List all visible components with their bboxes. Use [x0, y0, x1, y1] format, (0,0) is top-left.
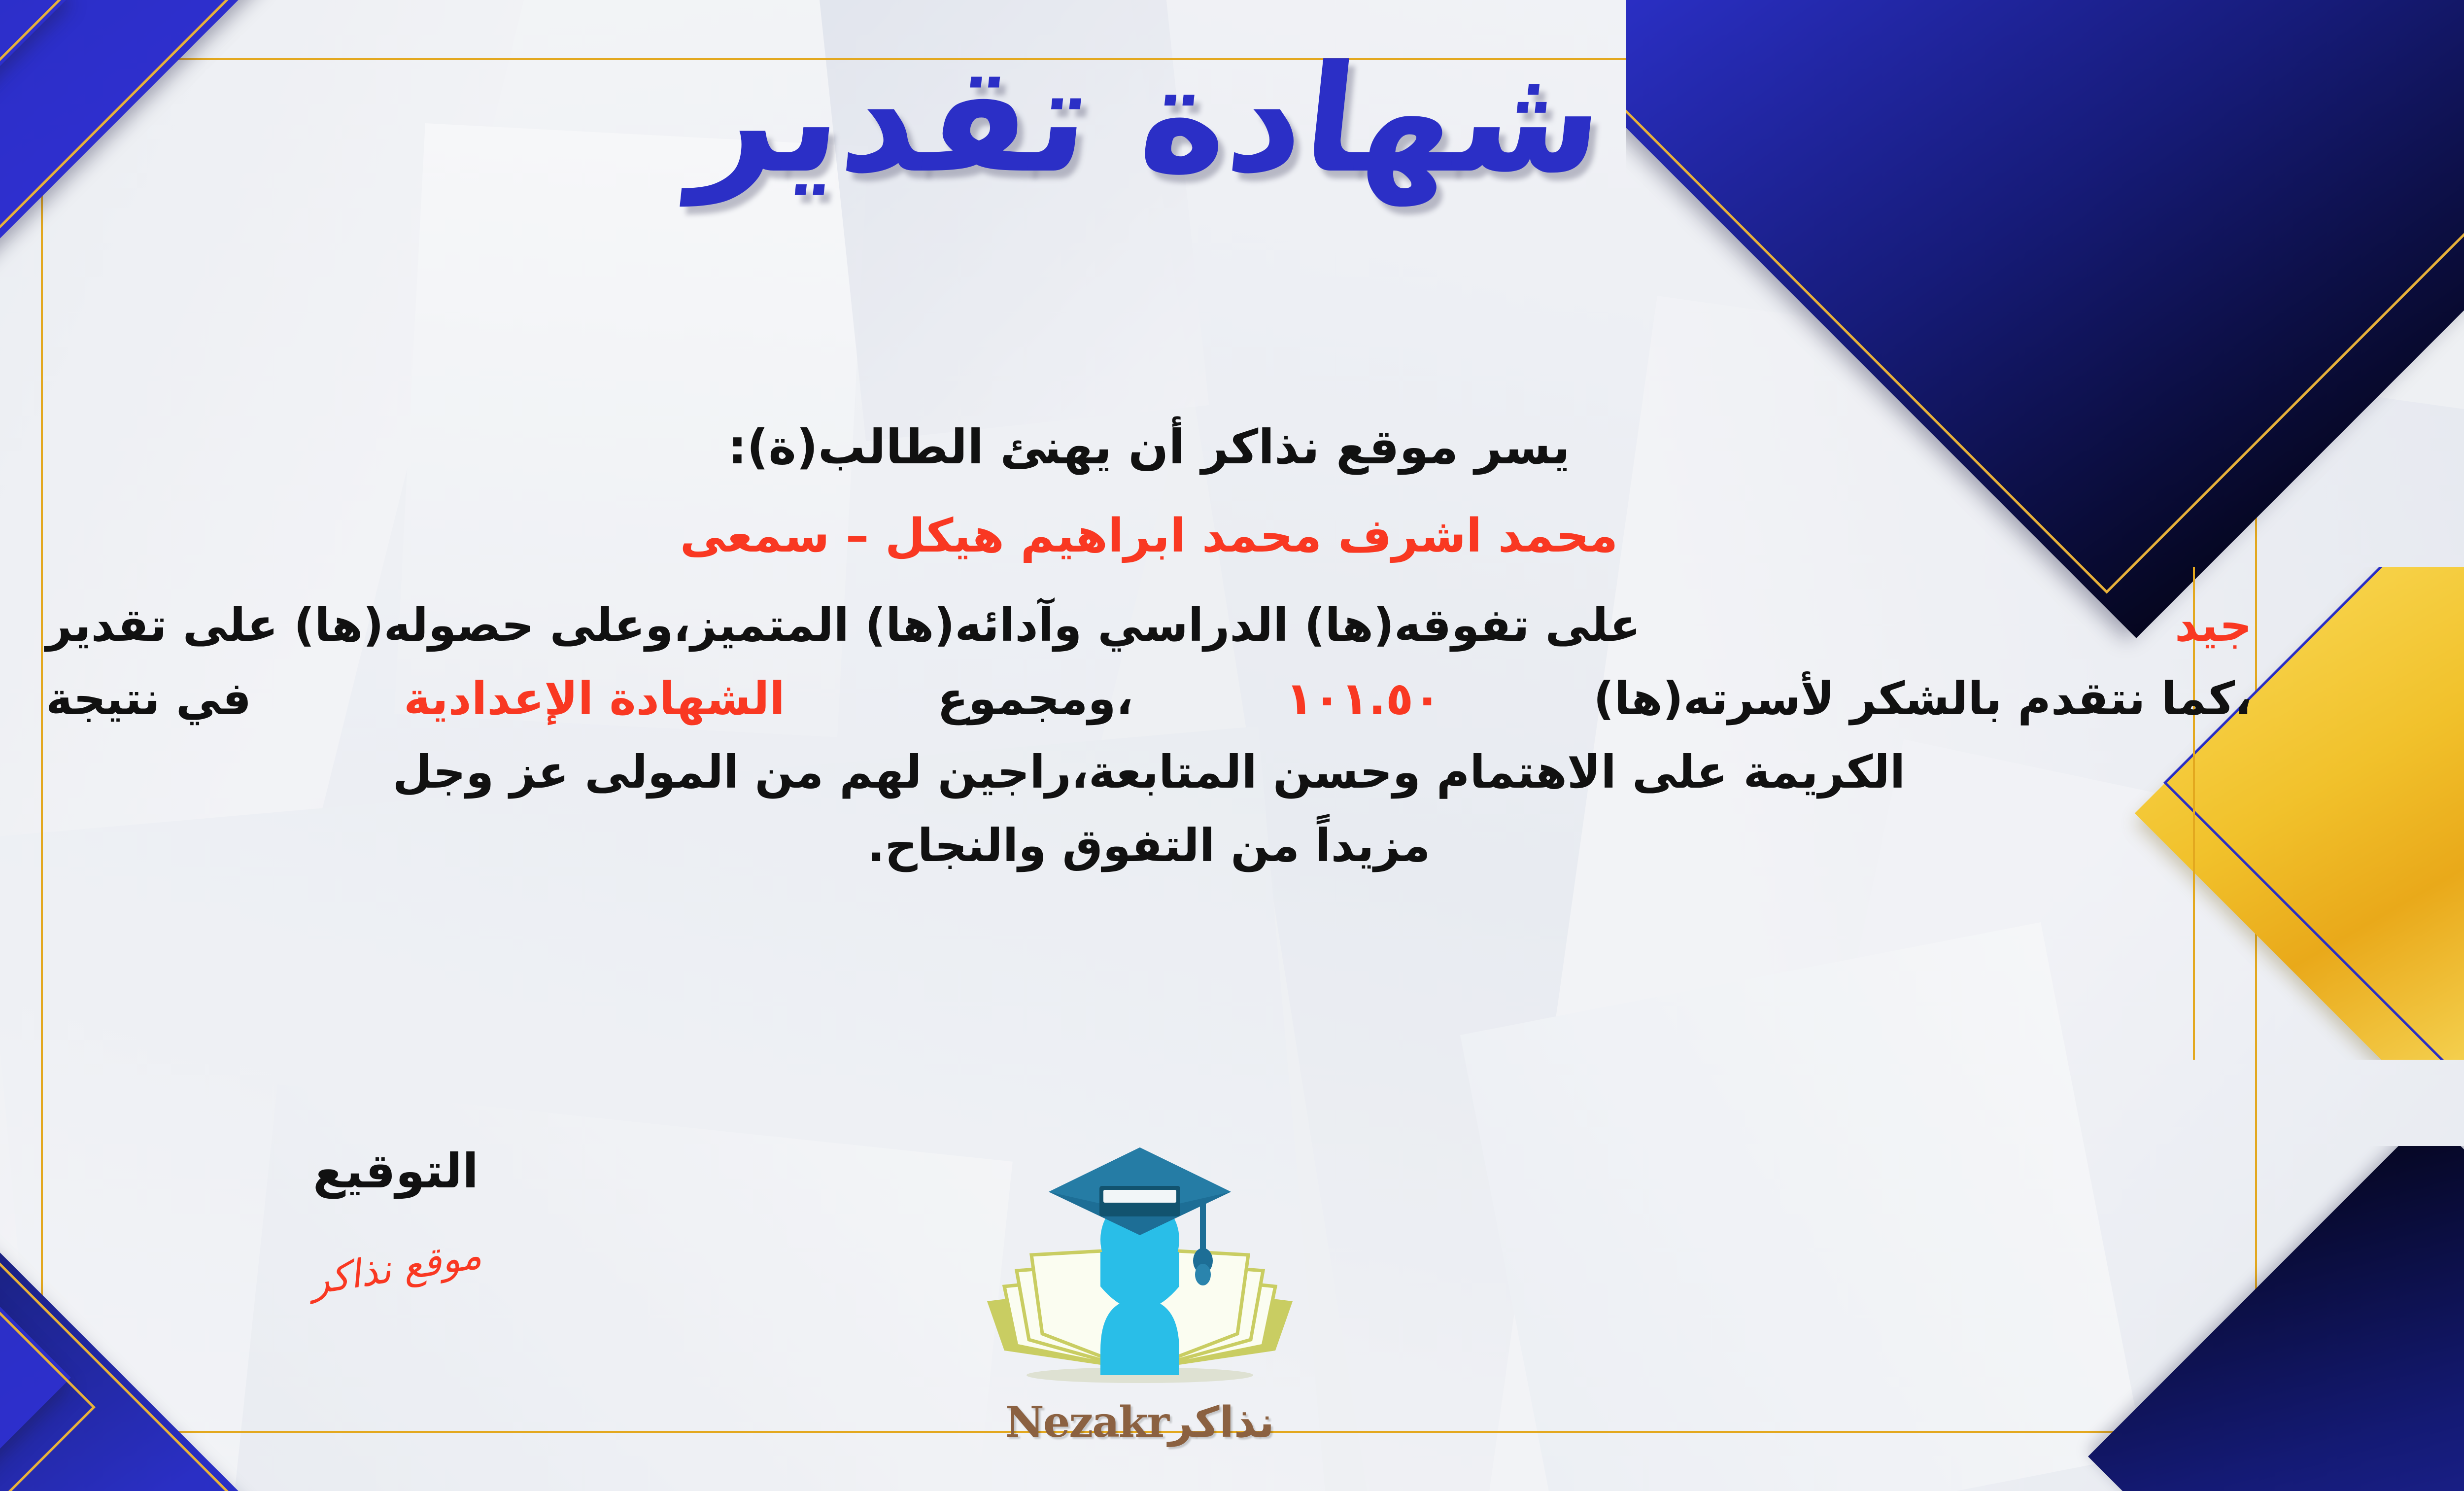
total-value: ١٠١.٥٠: [1286, 662, 1441, 735]
body-line-3: مزيداً من التفوق والنجاح.: [46, 809, 2252, 882]
certificate-title: شهادة تقدير: [0, 35, 2464, 205]
thanks-fragment: ،كما نتقدم بالشكر لأسرته(ها): [1593, 662, 2252, 735]
grade-line-text: على تفوقه(ها) الدراسي وآدائه(ها) المتميز…: [46, 589, 1641, 662]
grade-line: جيد على تفوقه(ها) الدراسي وآدائه(ها) الم…: [46, 589, 2252, 662]
corner-ornament-bottom-right: [2020, 1146, 2464, 1491]
result-prefix: في نتيجة: [46, 662, 251, 735]
certificate-type: الشهادة الإعدادية: [404, 662, 785, 735]
brand-arabic: نذاكر: [1168, 1398, 1274, 1447]
grade-value: جيد: [2175, 589, 2252, 662]
total-label: ،ومجموع: [937, 662, 1133, 735]
signature-block: التوقيع موقع نذاكر: [208, 1144, 583, 1290]
student-name: محمد اشرف محمد ابراهيم هيكل – سمعى: [46, 499, 2252, 574]
certificate-body: يسر موقع نذاكر أن يهنئ الطالب(ة): محمد ا…: [46, 409, 2252, 882]
result-line: ،كما نتقدم بالشكر لأسرته(ها) ١٠١.٥٠ ،ومج…: [46, 662, 2252, 735]
body-line-2: الكريمة على الاهتمام وحسن المتابعة،راجين…: [46, 735, 2252, 809]
brand-wordmark: Nezakrنذاكر: [958, 1397, 1322, 1447]
intro-line: يسر موقع نذاكر أن يهنئ الطالب(ة):: [46, 409, 2252, 486]
signature-label: التوقيع: [208, 1144, 583, 1199]
certificate-canvas: شهادة تقدير يسر موقع نذاكر أن يهنئ الطال…: [0, 0, 2464, 1491]
brand-latin: Nezakr: [1005, 1397, 1168, 1447]
brand-logo: Nezakrنذاكر: [958, 1139, 1322, 1444]
